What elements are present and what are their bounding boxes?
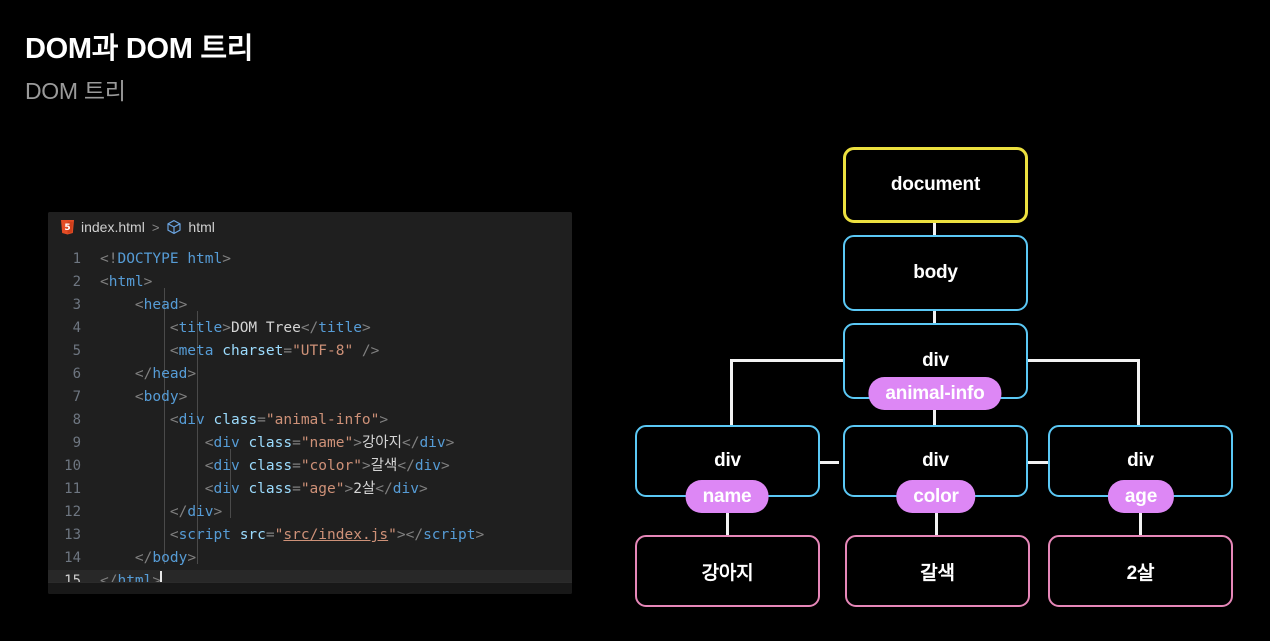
code-token-tag: div — [419, 435, 445, 451]
code-token-punct: > — [344, 481, 353, 497]
code-text: <meta charset="UTF-8" /> — [100, 340, 379, 363]
code-text: <div class="color">갈색</div> — [100, 455, 450, 478]
code-token-punct: > — [362, 320, 371, 336]
tree-pill-animal-info-label: animal-info — [885, 383, 984, 405]
code-token-tag: div — [214, 458, 240, 474]
code-token-tag: head — [144, 297, 179, 313]
code-token-punct: > — [397, 527, 406, 543]
tree-pill-name-label: name — [703, 486, 752, 508]
line-number: 1 — [48, 248, 100, 271]
code-text: <title>DOM Tree</title> — [100, 317, 371, 340]
code-token-punct: < — [205, 481, 214, 497]
tree-pill-name[interactable]: name — [686, 480, 769, 513]
tree-pill-animal-info[interactable]: animal-info — [868, 377, 1001, 410]
code-line[interactable]: 10 <div class="color">갈색</div> — [48, 455, 572, 478]
tree-node-div-color-label: div — [922, 450, 949, 472]
tree-pill-color-label: color — [913, 486, 958, 508]
code-token-punct: < — [205, 435, 214, 451]
code-token-punct: = — [266, 527, 275, 543]
code-token-str: "color" — [301, 458, 362, 474]
code-token-punct: > — [475, 527, 484, 543]
code-token-txt — [100, 412, 170, 428]
code-token-txt — [205, 412, 214, 428]
code-text: <div class="name">강아지</div> — [100, 432, 454, 455]
code-token-punct: < — [100, 274, 109, 290]
line-number: 3 — [48, 294, 100, 317]
editor-bottom-bar — [48, 582, 572, 594]
code-token-punct: </ — [135, 366, 152, 382]
code-token-tag: div — [415, 458, 441, 474]
line-number: 7 — [48, 386, 100, 409]
code-token-tag: meta — [179, 343, 214, 359]
code-token-txt — [100, 458, 205, 474]
code-text: </div> — [100, 501, 222, 524]
code-token-txt — [100, 320, 170, 336]
code-token-punct: /> — [362, 343, 379, 359]
code-token-tag: script — [423, 527, 475, 543]
code-token-attr: class — [248, 458, 292, 474]
code-token-tag: html — [109, 274, 144, 290]
code-area[interactable]: 1<!DOCTYPE html>2<html>3 <head>4 <title>… — [48, 242, 572, 594]
code-token-attr: class — [248, 481, 292, 497]
code-token-tag: body — [152, 550, 187, 566]
line-number: 8 — [48, 409, 100, 432]
connector-bus-right-drop — [1137, 359, 1140, 434]
breadcrumb-file-label: index.html — [81, 219, 145, 235]
line-number: 11 — [48, 478, 100, 501]
code-line[interactable]: 7 <body> — [48, 386, 572, 409]
code-token-punct: > — [353, 435, 362, 451]
code-token-txt — [231, 527, 240, 543]
code-token-txt: 갈색 — [371, 458, 398, 474]
code-token-tag: div — [179, 412, 205, 428]
line-number: 14 — [48, 547, 100, 570]
code-token-tag: div — [393, 481, 419, 497]
tree-node-text-age-label: 2살 — [1127, 558, 1155, 585]
code-token-txt — [100, 366, 135, 382]
tree-node-text-color-label: 갈색 — [920, 558, 955, 585]
code-token-txt — [353, 343, 362, 359]
code-token-punct: > — [441, 458, 450, 474]
code-line[interactable]: 13 <script src="src/index.js"></script> — [48, 524, 572, 547]
code-token-attr: charset — [222, 343, 283, 359]
code-token-punct: > — [179, 297, 188, 313]
code-text: <div class="animal-info"> — [100, 409, 388, 432]
code-token-punct: < — [170, 320, 179, 336]
code-token-txt — [100, 389, 135, 405]
line-number: 5 — [48, 340, 100, 363]
code-text: <div class="age">2살</div> — [100, 478, 428, 501]
code-token-punct: </ — [375, 481, 392, 497]
code-line[interactable]: 1<!DOCTYPE html> — [48, 248, 572, 271]
tree-pill-age-label: age — [1125, 486, 1157, 508]
line-number: 13 — [48, 524, 100, 547]
code-token-punct: > — [362, 458, 371, 474]
code-token-tag: body — [144, 389, 179, 405]
page-subtitle: DOM 트리 — [25, 72, 126, 106]
svg-text:5: 5 — [64, 223, 70, 233]
tree-pill-age[interactable]: age — [1108, 480, 1174, 513]
tree-node-text-name-label: 강아지 — [702, 558, 754, 585]
code-token-punct: </ — [301, 320, 318, 336]
code-token-punct: > — [187, 366, 196, 382]
code-token-txt — [100, 550, 135, 566]
line-number: 12 — [48, 501, 100, 524]
code-token-punct: > — [187, 550, 196, 566]
code-token-punct: </ — [397, 458, 414, 474]
code-token-txt — [100, 504, 170, 520]
breadcrumb-symbol-label: html — [188, 219, 214, 235]
line-number: 4 — [48, 317, 100, 340]
line-number: 10 — [48, 455, 100, 478]
code-token-punct: < — [135, 389, 144, 405]
code-token-tag: DOCTYPE — [117, 251, 178, 267]
code-text: <!DOCTYPE html> — [100, 248, 231, 271]
code-token-tag: title — [179, 320, 223, 336]
code-line[interactable]: 5 <meta charset="UTF-8" /> — [48, 340, 572, 363]
code-token-punct: < — [170, 527, 179, 543]
code-token-txt: 2살 — [353, 481, 375, 497]
code-token-tag: title — [318, 320, 362, 336]
code-text: </body> — [100, 547, 196, 570]
tree-node-document[interactable]: document — [843, 147, 1028, 223]
code-line[interactable]: 4 <title>DOM Tree</title> — [48, 317, 572, 340]
code-token-punct: = — [292, 435, 301, 451]
code-token-punct: </ — [406, 527, 423, 543]
tree-node-div-age-label: div — [1127, 450, 1154, 472]
code-token-txt — [100, 435, 205, 451]
code-token-txt — [100, 297, 135, 313]
code-token-txt: 강아지 — [362, 435, 402, 451]
code-token-attr: class — [248, 435, 292, 451]
breadcrumb[interactable]: 5 index.html > html — [48, 212, 572, 242]
tree-node-div-animal-info-label: div — [922, 350, 949, 372]
code-token-tag: div — [187, 504, 213, 520]
code-line[interactable]: 14 </body> — [48, 547, 572, 570]
line-number: 2 — [48, 271, 100, 294]
code-token-punct: = — [257, 412, 266, 428]
code-token-punct: </ — [135, 550, 152, 566]
tree-node-text-name[interactable]: 강아지 — [635, 535, 820, 607]
tree-pill-color[interactable]: color — [896, 480, 975, 513]
code-token-punct: < — [170, 412, 179, 428]
code-token-txt: DOM Tree — [231, 320, 301, 336]
code-token-str: "name" — [301, 435, 353, 451]
code-token-punct: < — [170, 343, 179, 359]
code-token-attr: class — [214, 412, 258, 428]
code-token-txt — [179, 251, 188, 267]
code-token-str: "age" — [301, 481, 345, 497]
code-token-punct: = — [283, 343, 292, 359]
line-number: 9 — [48, 432, 100, 455]
tree-node-body-label: body — [913, 262, 958, 284]
code-line[interactable]: 9 <div class="name">강아지</div> — [48, 432, 572, 455]
code-token-tag: html — [187, 251, 222, 267]
code-token-punct: </ — [402, 435, 419, 451]
code-token-punct: = — [292, 481, 301, 497]
code-line[interactable]: 6 </head> — [48, 363, 572, 386]
code-token-str: "UTF-8" — [292, 343, 353, 359]
tree-node-div-name-label: div — [714, 450, 741, 472]
cube-icon — [166, 219, 182, 235]
code-token-punct: > — [222, 251, 231, 267]
code-line[interactable]: 12 </div> — [48, 501, 572, 524]
code-token-punct: < — [205, 458, 214, 474]
code-text: <head> — [100, 294, 187, 317]
code-token-link[interactable]: src/index.js — [283, 527, 388, 543]
code-token-punct: < — [135, 297, 144, 313]
code-token-punct: = — [292, 458, 301, 474]
tree-node-text-color[interactable]: 갈색 — [845, 535, 1030, 607]
code-line[interactable]: 11 <div class="age">2살</div> — [48, 478, 572, 501]
code-token-punct: > — [379, 412, 388, 428]
code-token-tag: div — [214, 435, 240, 451]
code-token-txt — [100, 481, 205, 497]
code-token-str: "animal-info" — [266, 412, 380, 428]
code-token-punct: </ — [170, 504, 187, 520]
tree-node-body[interactable]: body — [843, 235, 1028, 311]
code-token-txt — [100, 343, 170, 359]
breadcrumb-file[interactable]: 5 index.html — [60, 219, 145, 235]
code-token-tag: script — [179, 527, 231, 543]
code-editor-panel: 5 index.html > html — [48, 212, 572, 594]
code-token-tag: head — [152, 366, 187, 382]
code-token-attr: src — [240, 527, 266, 543]
tree-node-text-age[interactable]: 2살 — [1048, 535, 1233, 607]
code-text: </head> — [100, 363, 196, 386]
code-token-tag: div — [214, 481, 240, 497]
slide-canvas: DOM과 DOM 트리 DOM 트리 5 index.html > — [0, 0, 1270, 641]
code-token-punct: > — [214, 504, 223, 520]
html5-icon: 5 — [60, 219, 75, 235]
code-text: <script src="src/index.js"></script> — [100, 524, 484, 547]
code-token-punct: > — [419, 481, 428, 497]
code-line[interactable]: 8 <div class="animal-info"> — [48, 409, 572, 432]
code-token-punct: > — [222, 320, 231, 336]
code-token-punct: > — [179, 389, 188, 405]
dom-tree-diagram: document body div animal-info div name d… — [600, 130, 1260, 630]
page-title: DOM과 DOM 트리 — [25, 25, 253, 67]
connector-bus-left-drop — [730, 359, 733, 434]
code-text: <html> — [100, 271, 152, 294]
breadcrumb-symbol[interactable]: html — [166, 219, 214, 235]
code-line[interactable]: 2<html> — [48, 271, 572, 294]
code-token-txt — [100, 527, 170, 543]
code-token-str: " — [388, 527, 397, 543]
code-token-punct: > — [144, 274, 153, 290]
line-number: 6 — [48, 363, 100, 386]
code-text: <body> — [100, 386, 187, 409]
code-token-punct: <! — [100, 251, 117, 267]
code-line[interactable]: 3 <head> — [48, 294, 572, 317]
tree-node-document-label: document — [891, 174, 980, 196]
code-token-txt — [214, 343, 223, 359]
code-token-punct: > — [446, 435, 455, 451]
breadcrumb-separator: > — [151, 220, 161, 235]
